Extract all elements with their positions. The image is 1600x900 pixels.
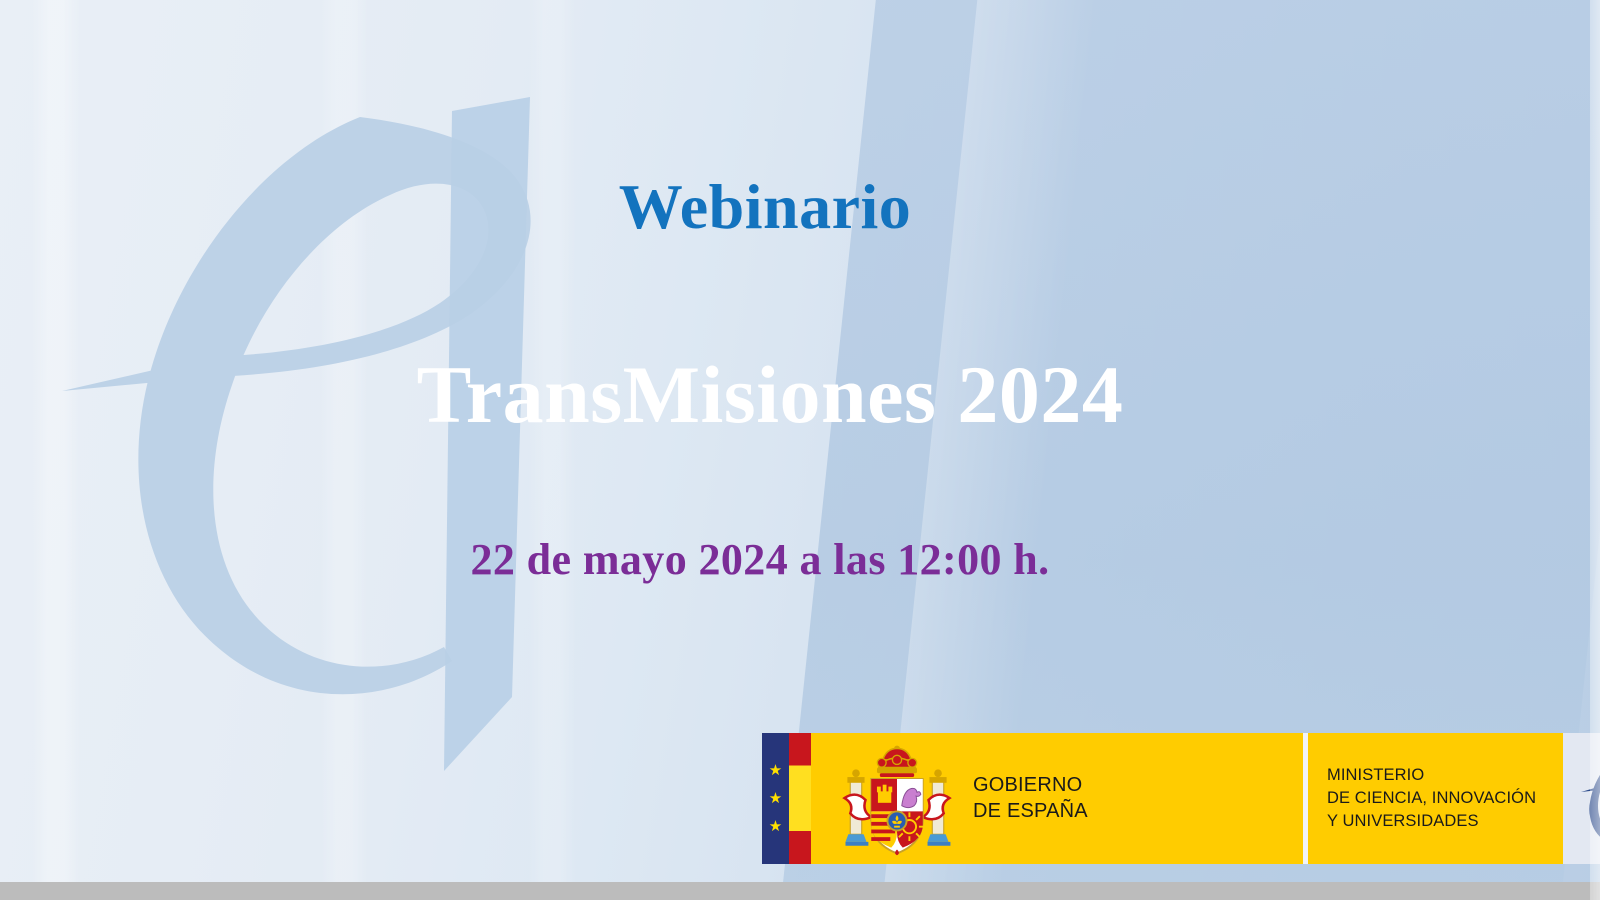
ministerio-line-1: MINISTERIO bbox=[1327, 764, 1536, 787]
institutional-logo-bar: ★ ★ ★ bbox=[762, 733, 1600, 864]
spain-flag-band bbox=[789, 733, 811, 864]
presentation-slide: Webinario TransMisiones 2024 22 de mayo … bbox=[0, 0, 1600, 900]
ministerio-label: MINISTERIO DE CIENCIA, INNOVACIÓN Y UNIV… bbox=[1327, 764, 1536, 832]
page-title: TransMisiones 2024 bbox=[0, 348, 1540, 442]
spain-coat-of-arms bbox=[835, 737, 959, 861]
slide-right-edge bbox=[1590, 0, 1600, 900]
kicker-text: Webinario bbox=[0, 170, 1530, 244]
gobierno-de-espana-logo: ★ ★ ★ bbox=[762, 733, 1303, 864]
event-datetime: 22 de mayo 2024 a las 12:00 h. bbox=[0, 534, 1520, 585]
gobierno-line-2: DE ESPAÑA bbox=[973, 799, 1088, 825]
eu-star-icon: ★ bbox=[769, 791, 782, 806]
ministerio-line-2: DE CIENCIA, INNOVACIÓN bbox=[1327, 787, 1536, 810]
slide-bottom-edge bbox=[0, 882, 1600, 900]
gobierno-label: GOBIERNO DE ESPAÑA bbox=[973, 773, 1088, 824]
spain-eu-flag-strip: ★ ★ ★ bbox=[762, 733, 811, 864]
ministerio-line-3: Y UNIVERSIDADES bbox=[1327, 810, 1536, 833]
eu-star-icon: ★ bbox=[769, 819, 782, 834]
eu-flag-band: ★ ★ ★ bbox=[762, 733, 789, 864]
ministerio-logo: MINISTERIO DE CIENCIA, INNOVACIÓN Y UNIV… bbox=[1308, 733, 1563, 864]
eu-star-icon: ★ bbox=[769, 763, 782, 778]
gobierno-line-1: GOBIERNO bbox=[973, 773, 1088, 799]
